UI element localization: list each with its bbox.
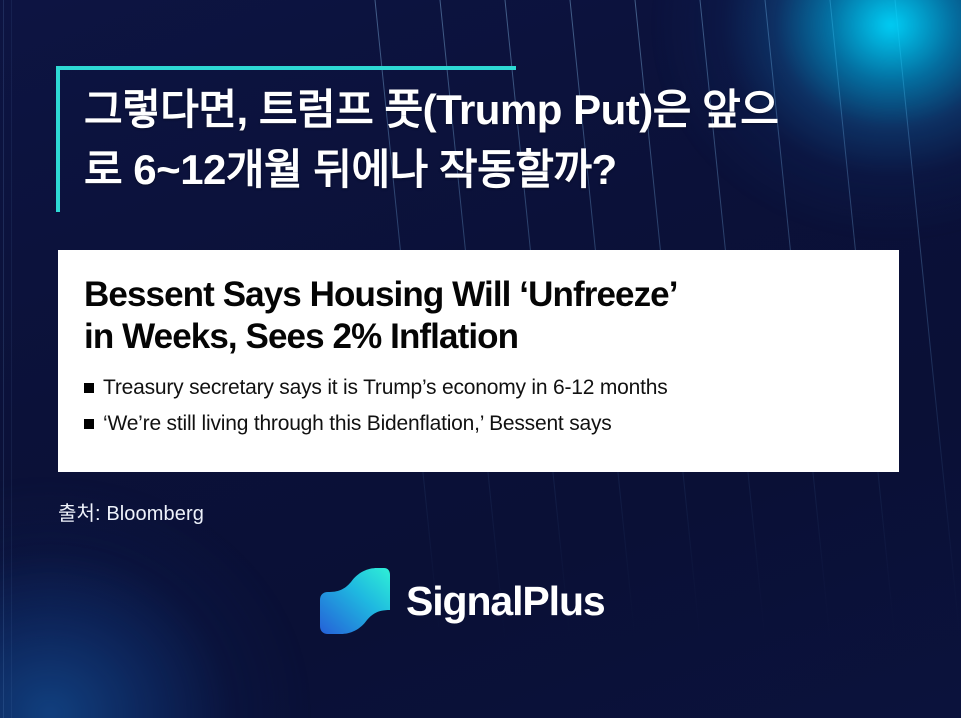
source-attribution: 출처: Bloomberg xyxy=(58,497,204,526)
edge-seam-line xyxy=(11,0,12,718)
title-block: 그렇다면, 트럼프 풋(Trump Put)은 앞으 로 6~12개월 뒤에나 … xyxy=(56,66,916,200)
list-item: ‘We’re still living through this Bidenfl… xyxy=(84,410,873,437)
square-bullet-icon xyxy=(84,419,94,429)
page-title: 그렇다면, 트럼프 풋(Trump Put)은 앞으 로 6~12개월 뒤에나 … xyxy=(84,66,916,200)
signalplus-wave-icon xyxy=(318,566,392,636)
list-item-label: Treasury secretary says it is Trump’s ec… xyxy=(103,374,668,401)
news-headline: Bessent Says Housing Will ‘Unfreeze’ in … xyxy=(84,274,873,358)
slide-root: 그렇다면, 트럼프 풋(Trump Put)은 앞으 로 6~12개월 뒤에나 … xyxy=(0,0,961,718)
news-bullet-list: Treasury secretary says it is Trump’s ec… xyxy=(84,374,873,437)
brand-logo: SignalPlus xyxy=(318,566,605,636)
square-bullet-icon xyxy=(84,383,94,393)
list-item: Treasury secretary says it is Trump’s ec… xyxy=(84,374,873,401)
list-item-label: ‘We’re still living through this Bidenfl… xyxy=(103,410,612,437)
brand-name: SignalPlus xyxy=(406,578,605,625)
news-headline-card: Bessent Says Housing Will ‘Unfreeze’ in … xyxy=(58,250,899,472)
edge-seam-line xyxy=(3,0,4,718)
